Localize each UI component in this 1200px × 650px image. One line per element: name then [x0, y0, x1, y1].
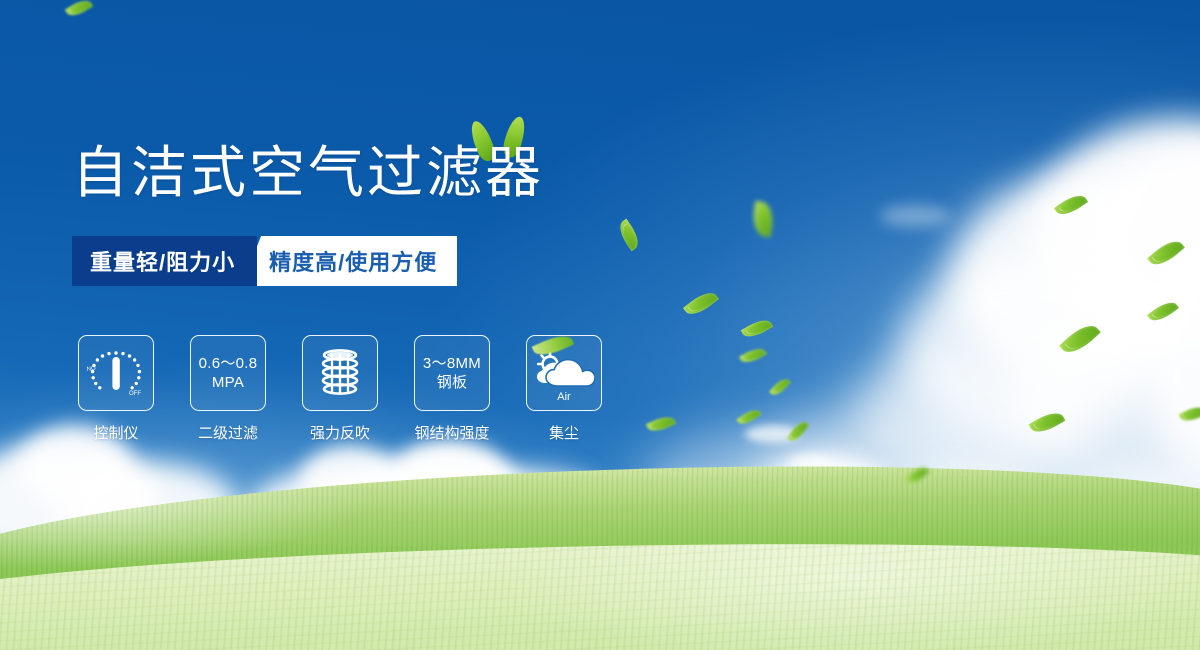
- feature-caption: 集尘: [549, 422, 579, 443]
- feature-item-secondary-filter[interactable]: 0.6～0.8 MPA 二级过滤: [190, 335, 266, 443]
- subtitle-tag-secondary: 精度高/使用方便: [241, 236, 457, 286]
- feature-item-backflush[interactable]: 强力反吹: [302, 335, 378, 443]
- feature-caption: 强力反吹: [310, 422, 370, 443]
- pressure-value-icon: 0.6～0.8 MPA: [190, 335, 266, 411]
- feature-caption: 控制仪: [93, 422, 138, 443]
- feature-item-controller[interactable]: NO OFF 控制仪: [78, 335, 154, 443]
- feature-caption: 二级过滤: [198, 422, 258, 443]
- pressure-unit-text: MPA: [199, 373, 258, 392]
- filter-cartridge-icon: [302, 335, 378, 411]
- cloud-air-icon: Air: [526, 335, 602, 411]
- pressure-range-text: 0.6～0.8: [199, 354, 258, 373]
- subtitle-tag-bar: 重量轻/阻力小 精度高/使用方便: [72, 236, 457, 286]
- steel-thickness-text: 3～8MM: [423, 354, 481, 373]
- subtitle-tag-primary: 重量轻/阻力小: [72, 236, 257, 286]
- page-title: 自洁式空气过滤器: [72, 143, 544, 203]
- svg-text:NO: NO: [86, 366, 96, 373]
- product-banner: 自洁式空气过滤器 重量轻/阻力小 精度高/使用方便: [0, 0, 1200, 650]
- svg-text:OFF: OFF: [129, 391, 141, 397]
- steel-plate-text: 钢板: [423, 373, 481, 392]
- feature-item-dust-collection[interactable]: Air 集尘: [526, 335, 602, 443]
- gauge-dial-icon: NO OFF: [78, 335, 154, 411]
- feature-list: NO OFF 控制仪 0.6～0.8 MPA 二级过滤: [78, 335, 602, 443]
- air-label: Air: [527, 391, 601, 403]
- feature-item-steel-strength[interactable]: 3～8MM 钢板 钢结构强度: [414, 335, 490, 443]
- feature-caption: 钢结构强度: [414, 422, 489, 443]
- steel-plate-value-icon: 3～8MM 钢板: [414, 335, 490, 411]
